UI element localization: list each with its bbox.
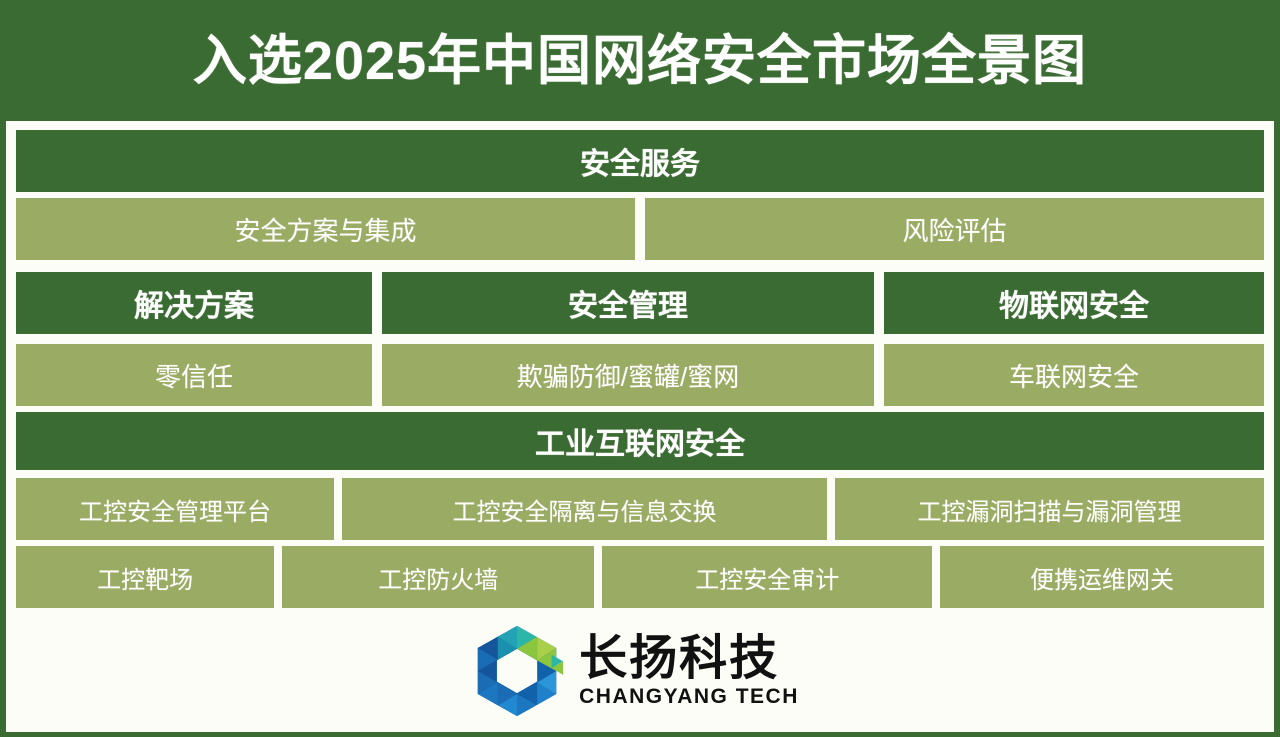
- section-header-security-service: 安全服务: [16, 130, 1264, 192]
- item-zero-trust[interactable]: 零信任: [16, 344, 372, 406]
- section-header-solution: 解决方案: [16, 272, 372, 334]
- page-title: 入选2025年中国网络安全市场全景图: [193, 34, 1087, 88]
- three-column-sections: 解决方案 零信任 安全管理 欺骗防御/蜜罐/蜜网 物联网安全 车联网安全: [16, 272, 1264, 406]
- item-security-solution-integration[interactable]: 安全方案与集成: [16, 198, 635, 260]
- logo-company-name-en: CHANGYANG TECH: [579, 685, 799, 708]
- item-ics-isolation-info-exchange[interactable]: 工控安全隔离与信息交换: [342, 478, 827, 540]
- item-deception-honeypot-honeynet[interactable]: 欺骗防御/蜜罐/蜜网: [382, 344, 874, 406]
- item-ics-vulnerability-scan-management[interactable]: 工控漏洞扫描与漏洞管理: [835, 478, 1264, 540]
- item-risk-assessment[interactable]: 风险评估: [645, 198, 1264, 260]
- item-portable-ops-gateway[interactable]: 便携运维网关: [940, 546, 1264, 608]
- section-header-iot-security: 物联网安全: [884, 272, 1264, 334]
- item-ics-security-management-platform[interactable]: 工控安全管理平台: [16, 478, 334, 540]
- industrial-items-row-1: 工控安全管理平台 工控安全隔离与信息交换 工控漏洞扫描与漏洞管理: [16, 478, 1264, 540]
- column-security-management: 安全管理 欺骗防御/蜜罐/蜜网: [382, 272, 874, 406]
- company-logo: 长扬科技 CHANGYANG TECH: [0, 616, 1268, 726]
- industrial-items-row-2: 工控靶场 工控防火墙 工控安全审计 便携运维网关: [16, 546, 1264, 608]
- logo-company-name-cn: 长扬科技: [579, 634, 779, 684]
- item-ics-cyber-range[interactable]: 工控靶场: [16, 546, 274, 608]
- section-header-security-management: 安全管理: [382, 272, 874, 334]
- item-vehicle-network-security[interactable]: 车联网安全: [884, 344, 1264, 406]
- poster-root: 入选2025年中国网络安全市场全景图 安全服务 安全方案与集成 风险评估 解决方…: [0, 0, 1280, 737]
- logo-text-block: 长扬科技 CHANGYANG TECH: [579, 634, 799, 707]
- changyang-hexagon-c-logo-icon: [469, 623, 565, 719]
- item-ics-security-audit[interactable]: 工控安全审计: [602, 546, 932, 608]
- section-header-industrial-internet-security: 工业互联网安全: [16, 412, 1264, 470]
- security-service-items: 安全方案与集成 风险评估: [16, 198, 1264, 260]
- column-iot-security: 物联网安全 车联网安全: [884, 272, 1264, 406]
- column-solution: 解决方案 零信任: [16, 272, 372, 406]
- title-band: 入选2025年中国网络安全市场全景图: [0, 0, 1280, 121]
- item-ics-firewall[interactable]: 工控防火墙: [282, 546, 594, 608]
